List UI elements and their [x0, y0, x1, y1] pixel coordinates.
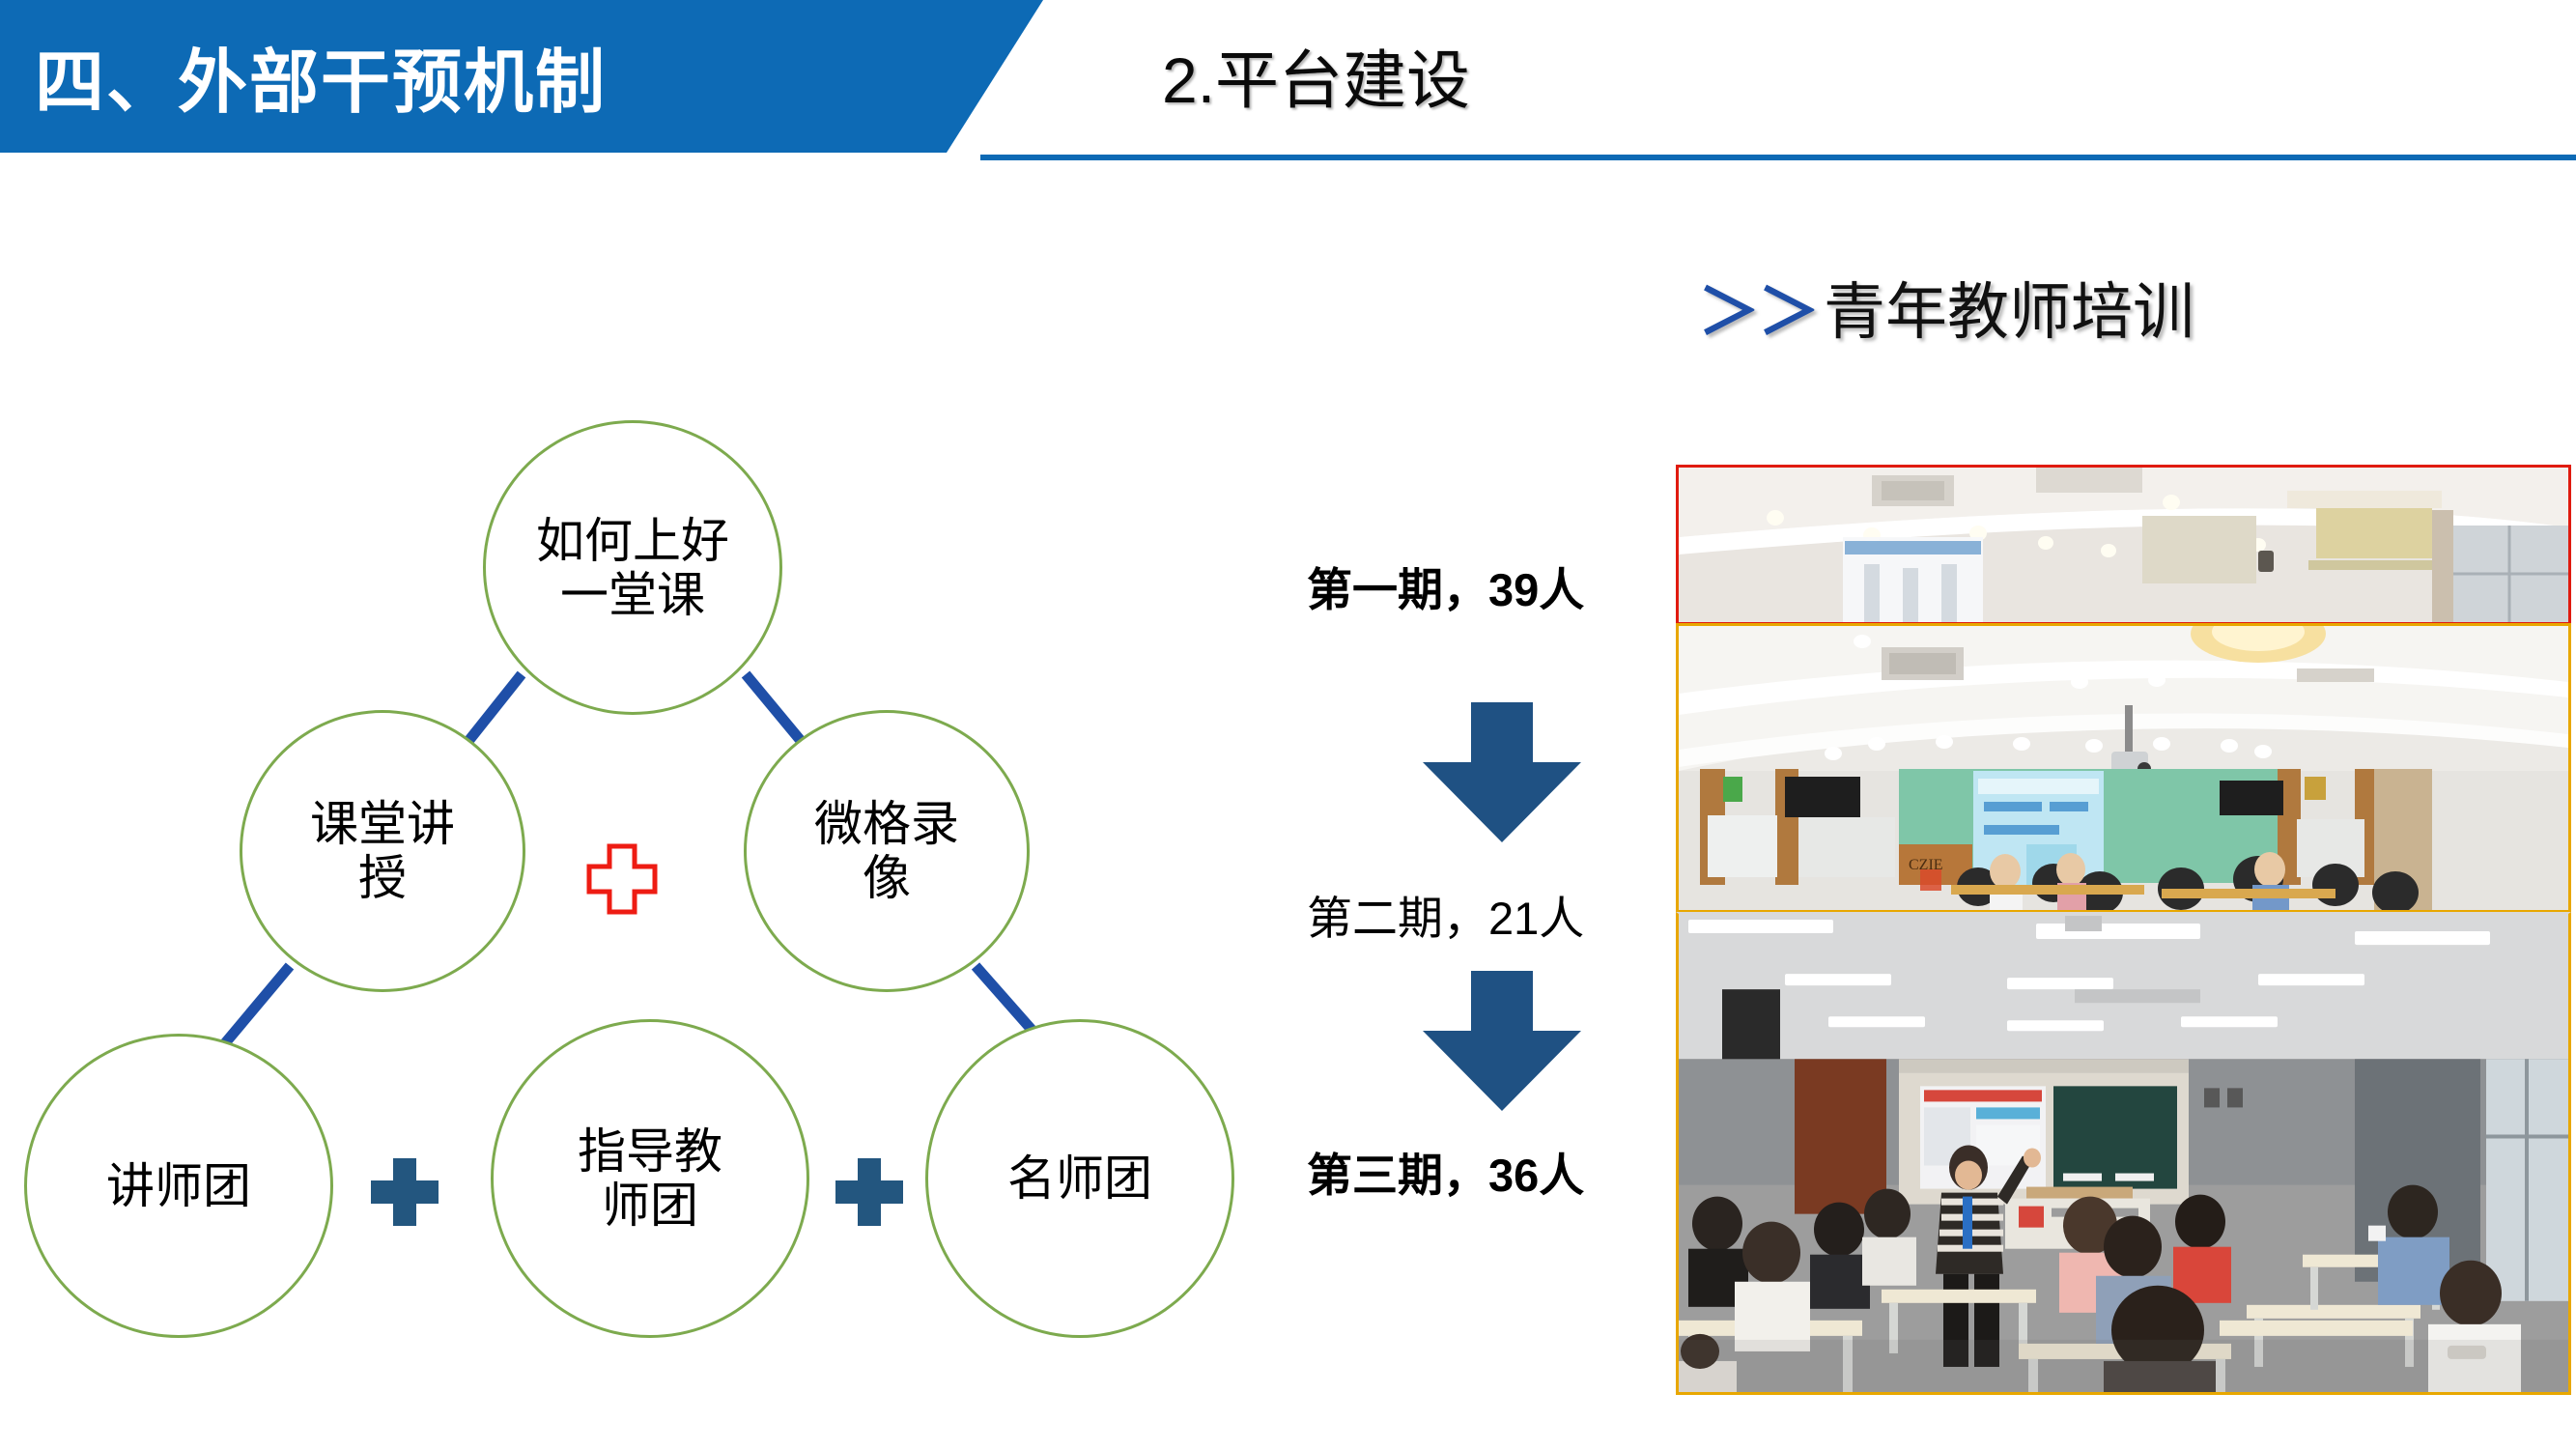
node-left-line1: 课堂讲: [304, 797, 461, 851]
diagram-node-microteaching-video[interactable]: 微格录 像: [744, 710, 1030, 992]
plus-cross-filled-icon-1: [367, 1154, 442, 1230]
diagram-node-master-teacher-team[interactable]: 名师团: [925, 1019, 1234, 1338]
node-right-line2: 像: [808, 851, 965, 905]
node-top-line1: 如何上好: [530, 514, 735, 568]
diagram-node-classroom-lecture[interactable]: 课堂讲 授: [240, 710, 525, 992]
photo-classroom-teaching-demo: [1676, 912, 2571, 1395]
node-b2-line1: 指导教: [572, 1124, 728, 1179]
diagram-node-top[interactable]: 如何上好 一堂课: [483, 420, 782, 715]
section-heading-label: 青年教师培训: [1824, 277, 2194, 347]
photo-2-content: CZIE: [1679, 626, 2568, 910]
node-b3-label: 名师团: [1002, 1151, 1158, 1206]
photo-conference-room-training: CZIE: [1676, 623, 2571, 913]
page-title: 四、外部干预机制: [35, 25, 607, 127]
down-arrow-icon-2: [1415, 971, 1589, 1116]
double-chevron-right-icon: ＞＞: [1698, 277, 1818, 347]
node-top-line2: 一堂课: [530, 568, 735, 622]
diagram-node-mentor-team[interactable]: 指导教 师团: [491, 1019, 809, 1338]
page-subtitle: 2.平台建设: [1162, 29, 1470, 122]
node-left-line2: 授: [304, 851, 461, 905]
down-arrow-icon-1: [1415, 702, 1589, 847]
photo-3-content: [1679, 914, 2568, 1392]
training-structure-diagram: 如何上好 一堂课 课堂讲 授 微格录 像 讲师团 指导教 师团 名师团: [0, 367, 1275, 1391]
node-b2-line2: 师团: [572, 1179, 728, 1233]
node-b1-label: 讲师团: [100, 1159, 257, 1213]
photo-1-content: [1679, 468, 2568, 622]
photo-lecture-hall-ceiling: [1676, 465, 2571, 625]
phase-label-1: 第一期，39人: [1307, 553, 1584, 619]
plus-cross-outline-icon: [583, 840, 661, 918]
phase-label-3: 第三期，36人: [1307, 1138, 1584, 1205]
plus-cross-filled-icon-2: [832, 1154, 907, 1230]
section-heading: ＞＞青年教师培训: [1698, 263, 2194, 352]
node-right-line1: 微格录: [808, 797, 965, 851]
phase-label-2: 第二期，21人: [1307, 881, 1584, 948]
header-divider-line: [980, 155, 2576, 160]
diagram-node-lecturer-team[interactable]: 讲师团: [24, 1034, 333, 1338]
